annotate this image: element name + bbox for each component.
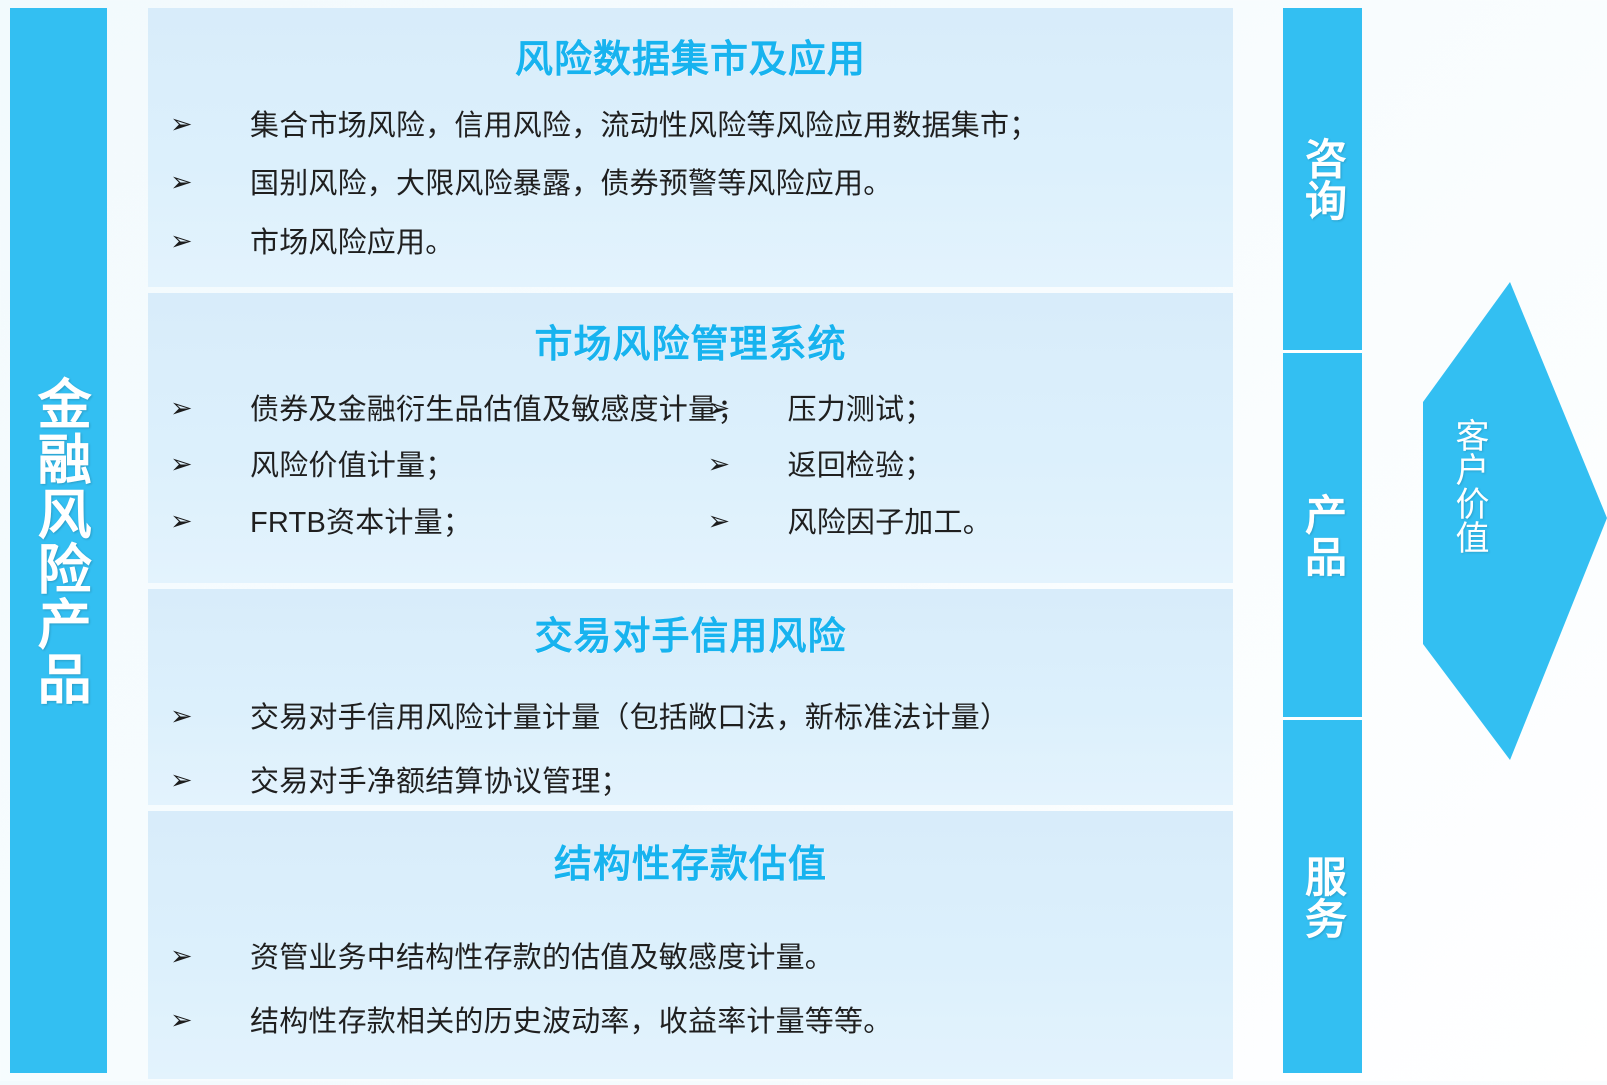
list-item-label: 交易对手信用风险计量计量（包括敞口法，新标准法计量） <box>250 700 1009 736</box>
panel-market-risk-system: 市场风险管理系统 ➢ 债券及金融衍生品估值及敏感度计量； ➢ 风险价值计量； ➢… <box>148 293 1233 583</box>
stage-segment-consulting: 咨询 <box>1283 8 1362 350</box>
panel-counterparty-credit-risk: 交易对手信用风险 ➢ 交易对手信用风险计量计量（包括敞口法，新标准法计量） ➢ … <box>148 589 1233 805</box>
panel-title: 市场风险管理系统 <box>148 293 1233 382</box>
list-item: ➢ 集合市场风险，信用风险，流动性风险等风险应用数据集市； <box>158 97 1233 155</box>
arrow-bullet-icon: ➢ <box>158 392 250 426</box>
list-item-label: 债券及金融衍生品估值及敏感度计量； <box>250 392 746 428</box>
arrow-bullet-icon: ➢ <box>158 448 250 482</box>
arrow-bullet-icon: ➢ <box>158 505 250 539</box>
bullet-list: ➢ 债券及金融衍生品估值及敏感度计量； ➢ 风险价值计量； ➢ FRTB资本计量… <box>148 382 1233 551</box>
panel-risk-data-mart: 风险数据集市及应用 ➢ 集合市场风险，信用风险，流动性风险等风险应用数据集市； … <box>148 8 1233 287</box>
list-item: ➢ 市场风险应用。 <box>158 214 1233 272</box>
list-item: ➢ 压力测试； <box>696 382 1234 438</box>
arrow-bullet-icon: ➢ <box>158 225 250 259</box>
customer-value-arrow: 客户价值 <box>1383 268 1607 773</box>
arrow-bullet-icon: ➢ <box>158 166 250 200</box>
list-item-label: 压力测试； <box>788 392 934 428</box>
list-item: ➢ 交易对手净额结算协议管理； <box>158 750 1233 814</box>
list-item: ➢ 资管业务中结构性存款的估值及敏感度计量。 <box>158 926 1233 990</box>
right-arrow-icon <box>1383 268 1607 773</box>
arrow-bullet-icon: ➢ <box>696 505 788 539</box>
arrow-bullet-icon: ➢ <box>696 392 788 426</box>
panel-title: 交易对手信用风险 <box>148 589 1233 686</box>
list-item-label: 结构性存款相关的历史波动率，收益率计量等等。 <box>250 1004 892 1040</box>
arrow-bullet-icon: ➢ <box>158 940 250 974</box>
list-item-label: 集合市场风险，信用风险，流动性风险等风险应用数据集市； <box>250 108 1038 144</box>
list-item: ➢ 返回检验； <box>696 438 1234 494</box>
list-item-label: 市场风险应用。 <box>250 225 454 261</box>
arrow-bullet-icon: ➢ <box>158 108 250 142</box>
arrow-bullet-icon: ➢ <box>158 764 250 798</box>
stage-column: 咨询 产品 服务 <box>1283 8 1362 1073</box>
list-item: ➢ 风险价值计量； <box>158 438 696 494</box>
customer-value-arrow-label: 客户价值 <box>1429 418 1489 554</box>
bullet-list: ➢ 交易对手信用风险计量计量（包括敞口法，新标准法计量） ➢ 交易对手净额结算协… <box>148 686 1233 815</box>
list-item-label: 风险因子加工。 <box>788 505 992 541</box>
stage-segment-label: 咨询 <box>1300 137 1344 221</box>
bullet-list: ➢ 集合市场风险，信用风险，流动性风险等风险应用数据集市； ➢ 国别风险，大限风… <box>148 97 1233 272</box>
stage-segment-service: 服务 <box>1283 717 1362 1073</box>
bullet-list: ➢ 资管业务中结构性存款的估值及敏感度计量。 ➢ 结构性存款相关的历史波动率，收… <box>148 926 1233 1055</box>
arrow-bullet-icon: ➢ <box>158 700 250 734</box>
arrow-bullet-icon: ➢ <box>158 1004 250 1038</box>
panel-stack: 风险数据集市及应用 ➢ 集合市场风险，信用风险，流动性风险等风险应用数据集市； … <box>148 8 1233 1085</box>
list-item: ➢ 债券及金融衍生品估值及敏感度计量； <box>158 382 696 438</box>
list-item-label: 交易对手净额结算协议管理； <box>250 764 630 800</box>
list-item: ➢ 国别风险，大限风险暴露，债券预警等风险应用。 <box>158 155 1233 213</box>
panel-title: 结构性存款估值 <box>148 811 1233 926</box>
list-item-label: FRTB资本计量； <box>250 505 472 541</box>
stage-segment-label: 产品 <box>1300 493 1344 577</box>
arrow-bullet-icon: ➢ <box>696 448 788 482</box>
list-item-label: 返回检验； <box>788 448 934 484</box>
stage-segment-product: 产品 <box>1283 350 1362 717</box>
list-item: ➢ 结构性存款相关的历史波动率，收益率计量等等。 <box>158 990 1233 1054</box>
list-item-label: 风险价值计量； <box>250 448 454 484</box>
list-item: ➢ 交易对手信用风险计量计量（包括敞口法，新标准法计量） <box>158 686 1233 750</box>
slide-canvas: 金融风险产品 风险数据集市及应用 ➢ 集合市场风险，信用风险，流动性风险等风险应… <box>0 0 1607 1081</box>
list-item: ➢ FRTB资本计量； <box>158 495 696 551</box>
left-title-bar-label: 金融风险产品 <box>30 376 87 706</box>
panel-structured-deposit-valuation: 结构性存款估值 ➢ 资管业务中结构性存款的估值及敏感度计量。 ➢ 结构性存款相关… <box>148 811 1233 1079</box>
list-item-label: 国别风险，大限风险暴露，债券预警等风险应用。 <box>250 166 892 202</box>
list-item-label: 资管业务中结构性存款的估值及敏感度计量。 <box>250 940 834 976</box>
bullet-column-right: ➢ 压力测试； ➢ 返回检验； ➢ 风险因子加工。 <box>696 382 1234 551</box>
stage-segment-label: 服务 <box>1300 855 1344 939</box>
panel-title: 风险数据集市及应用 <box>148 8 1233 97</box>
left-title-bar: 金融风险产品 <box>10 8 107 1073</box>
bullet-column-left: ➢ 债券及金融衍生品估值及敏感度计量； ➢ 风险价值计量； ➢ FRTB资本计量… <box>158 382 696 551</box>
list-item: ➢ 风险因子加工。 <box>696 495 1234 551</box>
